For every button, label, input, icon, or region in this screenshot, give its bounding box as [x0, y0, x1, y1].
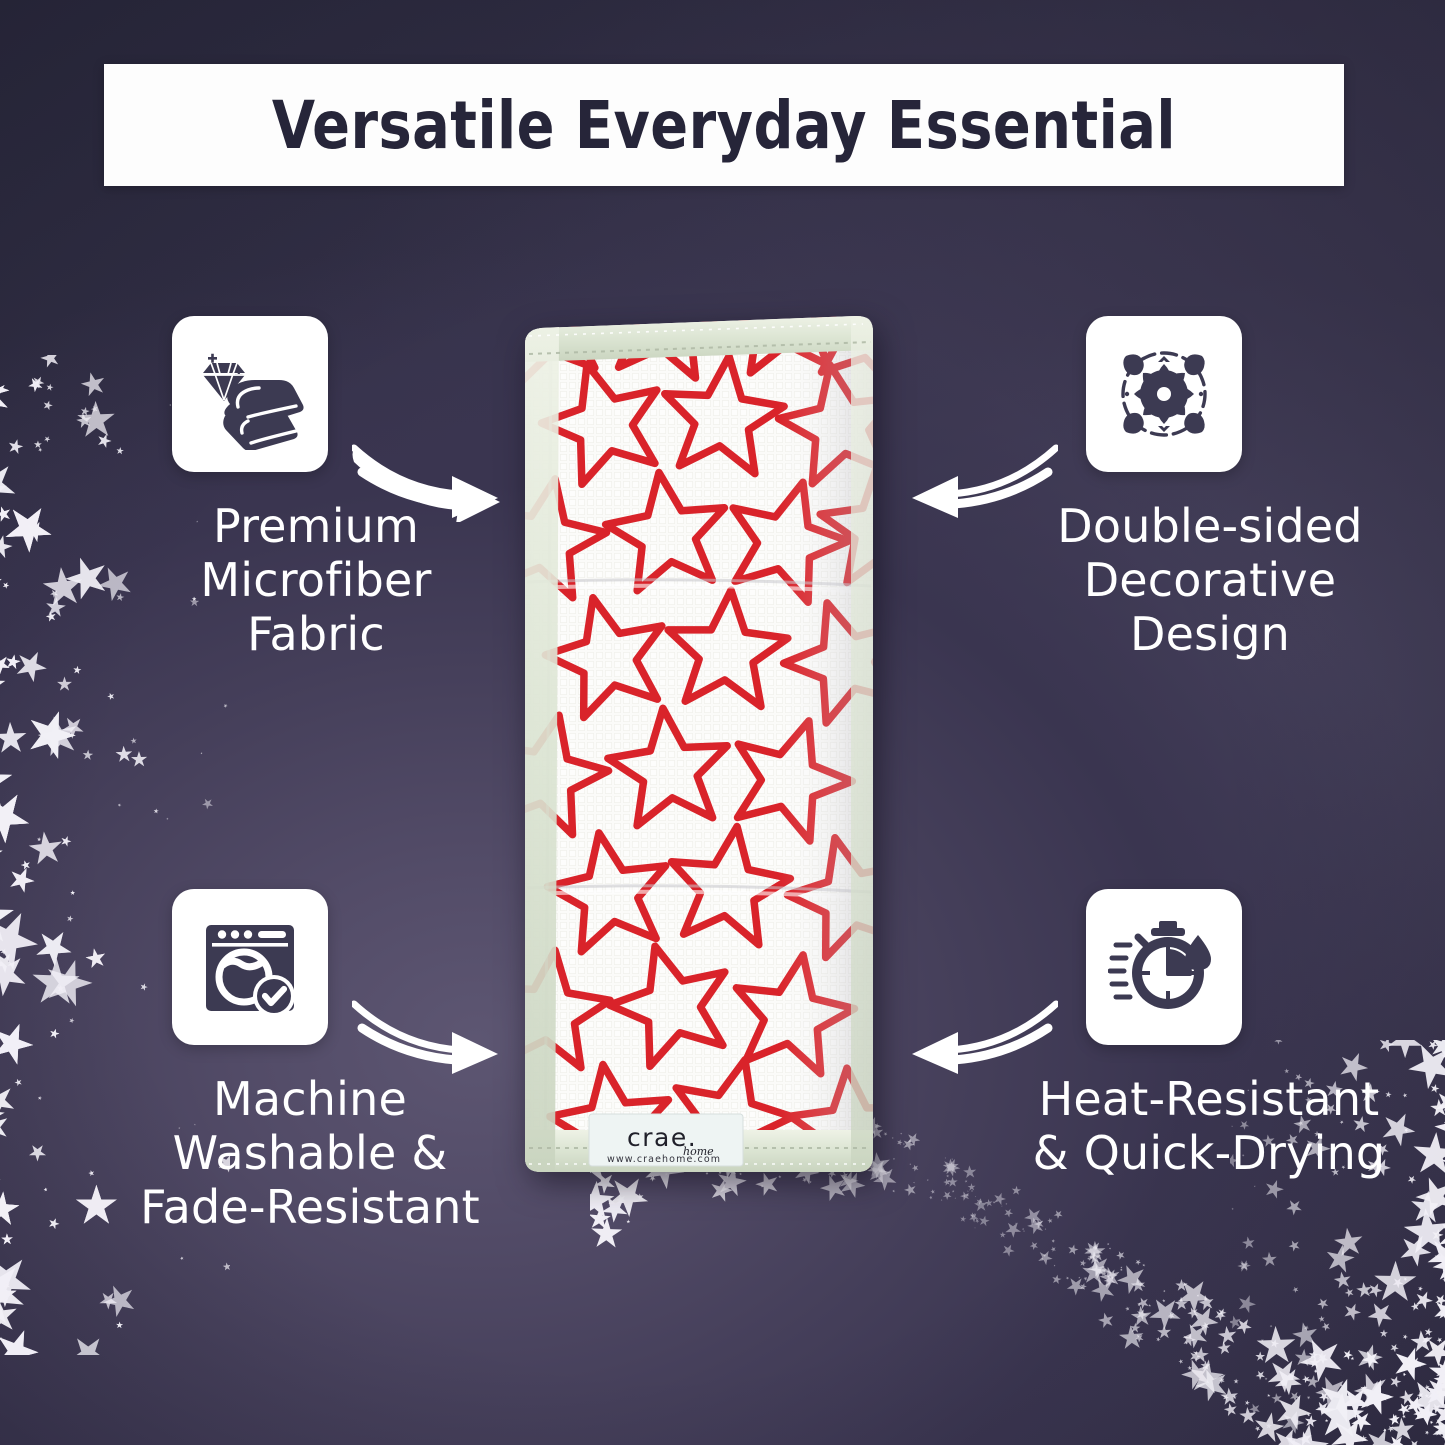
feature-double-sided-decorative-design: Double-sided Decorative Design: [1000, 316, 1420, 661]
diamond-towels-icon: [194, 338, 306, 450]
header-banner: Versatile Everyday Essential: [104, 64, 1344, 186]
feature-label: Heat-Resistant & Quick-Drying: [994, 1073, 1424, 1181]
svg-text:www.craehome.com: www.craehome.com: [607, 1154, 721, 1165]
infographic-canvas: crae. home www.craehome.com: [0, 0, 1445, 1445]
stopwatch-droplet-icon-card[interactable]: [1086, 889, 1242, 1045]
feature-machine-washable-fade-resistant: Machine Washable & Fade-Resistant: [150, 889, 570, 1234]
washing-machine-check-icon-card[interactable]: [172, 889, 328, 1045]
feature-premium-microfiber-fabric: Premium Microfiber Fabric: [150, 316, 570, 661]
page-title: Versatile Everyday Essential: [272, 87, 1176, 164]
feature-heat-resistant-quick-drying: Heat-Resistant & Quick-Drying: [1000, 889, 1420, 1181]
feature-label: Machine Washable & Fade-Resistant: [110, 1073, 510, 1234]
diamond-towels-icon-card[interactable]: [172, 316, 328, 472]
floral-medallion-icon-card[interactable]: [1086, 316, 1242, 472]
feature-label: Double-sided Decorative Design: [1000, 500, 1420, 661]
brand-label: crae. home www.craehome.com: [589, 1114, 743, 1166]
feature-label: Premium Microfiber Fabric: [126, 500, 506, 661]
washing-machine-check-icon: [194, 911, 306, 1023]
floral-medallion-icon: [1108, 338, 1220, 450]
stopwatch-droplet-icon: [1108, 911, 1220, 1023]
